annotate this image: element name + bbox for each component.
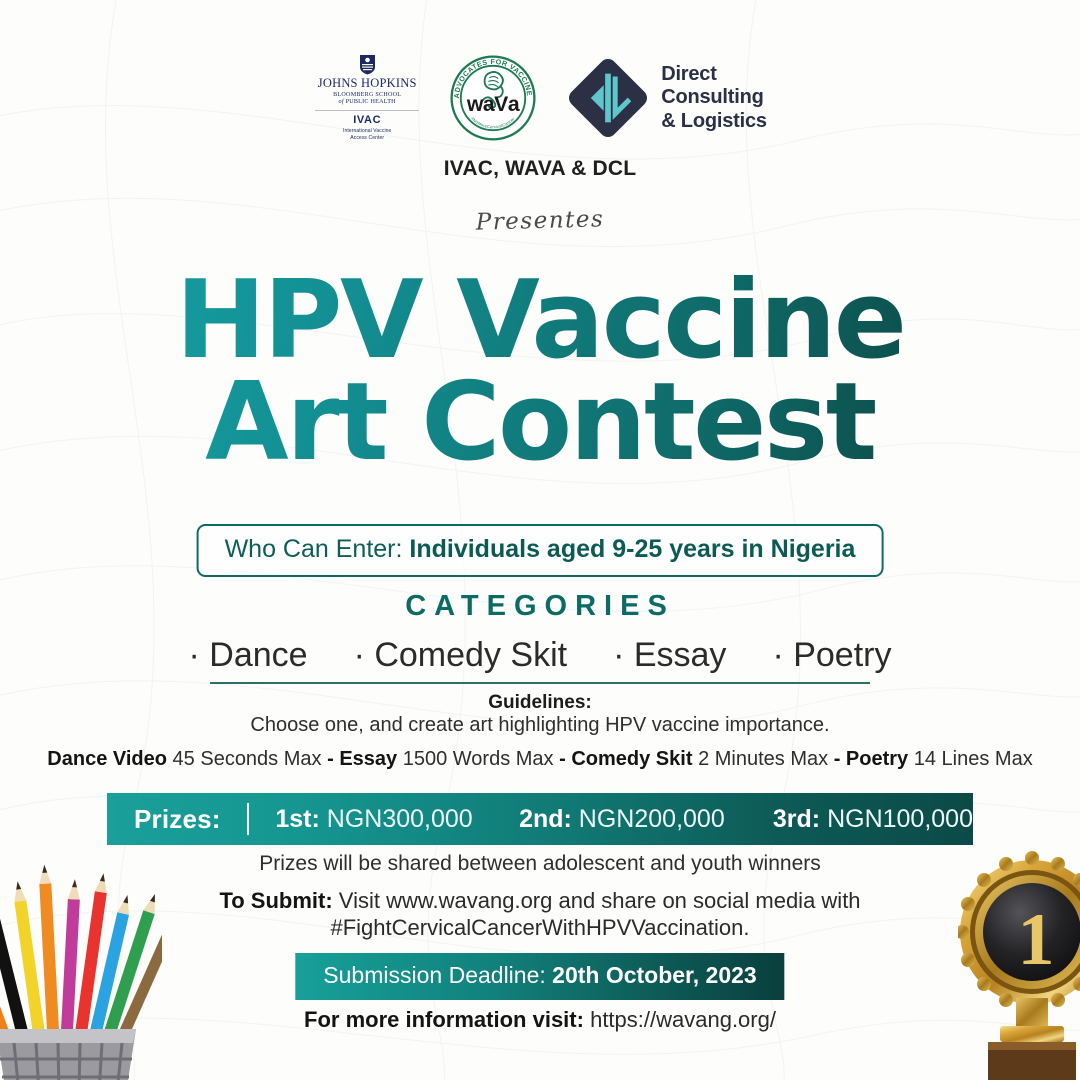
submission-deadline-banner: Submission Deadline: 20th October, 2023 [295,953,784,1000]
jhu-institution-name: JOHNS HOPKINS [318,77,417,90]
prizes-divider [247,803,250,835]
jhu-school-line2: PUBLIC HEALTH [346,99,396,105]
prize-third-amount: NGN100,000 [827,805,973,833]
dcl-wordmark: Direct Consulting & Logistics [661,63,767,133]
categories-list: · Dance · Comedy Skit · Essay · Poetry [0,636,1080,675]
guidelines-text: Choose one, and create art highlighting … [0,714,1080,737]
poster-canvas: JOHNS HOPKINS BLOOMBERG SCHOOL of PUBLIC… [0,0,1080,1080]
deadline-label: Submission Deadline: [323,962,545,988]
prize-third: 3rd: NGN100,000 [773,805,973,834]
limit-value-essay: 1500 Words Max [403,748,554,770]
submit-label: To Submit: [219,888,332,913]
limits-sep-2: - [559,748,566,770]
gold-trophy-decoration: 1 [958,848,1080,1080]
category-item-dance: · Dance [189,636,308,675]
prize-third-place: 3rd: [773,805,820,833]
prizes-label: Prizes: [134,804,221,835]
category-item-comedy-skit: · Comedy Skit [354,636,568,675]
submit-hashtag: #FightCervicalCancerWithHPVVaccination. [0,915,1080,941]
ivac-full-line2: Access Center [350,135,384,141]
deadline-date: 20th October, 2023 [552,962,757,988]
categories-underline [210,682,870,684]
eligibility-box: Who Can Enter: Individuals aged 9-25 yea… [197,524,884,577]
submit-instruction: Visit www.wavang.org and share on social… [339,888,861,913]
partner-logo-row: JOHNS HOPKINS BLOOMBERG SCHOOL of PUBLIC… [0,46,1080,150]
prize-second: 2nd: NGN200,000 [519,805,725,834]
limits-sep-3: - [834,748,841,770]
category-item-essay: · Essay [613,636,726,675]
partners-line: IVAC, WAVA & DCL [0,157,1080,181]
prize-second-amount: NGN200,000 [579,805,725,833]
more-info-url[interactable]: https://wavang.org/ [590,1007,776,1032]
dcl-logo: Direct Consulting & Logistics [565,55,767,141]
dcl-line3: & Logistics [661,110,767,132]
johns-hopkins-ivac-logo: JOHNS HOPKINS BLOOMBERG SCHOOL of PUBLIC… [313,54,421,142]
dcl-line2: Consulting [661,86,763,108]
limit-value-dance-video: 45 Seconds Max [173,748,322,770]
jhu-school-line1: BLOOMBERG SCHOOL [333,92,401,98]
limit-label-dance-video: Dance Video [47,748,167,770]
eligibility-label: Who Can Enter: [225,535,403,563]
guidelines-title: Guidelines: [0,692,1080,714]
svg-text:waVa: waVa [466,93,520,116]
category-item-poetry: · Poetry [772,636,891,675]
guidelines-limits: Dance Video 45 Seconds Max - Essay 1500 … [0,748,1080,771]
ivac-full-line1: International Vaccine [343,128,391,134]
prize-first-amount: NGN300,000 [327,805,473,833]
prize-first-place: 1st: [275,805,319,833]
prizes-bar: Prizes: 1st: NGN300,000 2nd: NGN200,000 … [107,793,973,845]
limit-label-essay: Essay [339,748,397,770]
dcl-diamond-icon [565,55,651,141]
more-info-label: For more information visit: [304,1007,584,1032]
categories-heading: CATEGORIES [0,590,1080,623]
jhu-shield-icon [359,54,376,75]
title-line-1: HPV Vaccine [0,270,1080,372]
limit-label-comedy-skit: Comedy Skit [571,748,692,770]
footer-more-info: For more information visit: https://wava… [0,1007,1080,1033]
ivac-full-name: International Vaccine Access Center [343,128,391,142]
jhu-school-of: of [339,99,344,105]
eligibility-value: Individuals aged 9-25 years in Nigeria [409,535,855,563]
dcl-line1: Direct [661,63,717,85]
prize-second-place: 2nd: [519,805,572,833]
presents-script: Presentes [0,194,1080,248]
jhu-divider [315,110,419,111]
submit-instruction-line: To Submit: Visit www.wavang.org and shar… [0,888,1080,914]
page-title: HPV Vaccine Art Contest [0,270,1080,473]
title-line-2: Art Contest [0,372,1080,474]
limits-sep-1: - [327,748,334,770]
wava-seal-logo: WOMEN ADVOCATES FOR VACCINE ACCESS #NoMo… [447,52,539,144]
prizes-note: Prizes will be shared between adolescent… [0,852,1080,876]
jhu-school-name: BLOOMBERG SCHOOL of PUBLIC HEALTH [333,92,401,105]
limit-value-poetry: 14 Lines Max [914,748,1033,770]
ivac-abbreviation: IVAC [353,115,381,127]
prize-first: 1st: NGN300,000 [275,805,472,834]
limit-label-poetry: Poetry [846,748,908,770]
limit-value-comedy-skit: 2 Minutes Max [698,748,828,770]
